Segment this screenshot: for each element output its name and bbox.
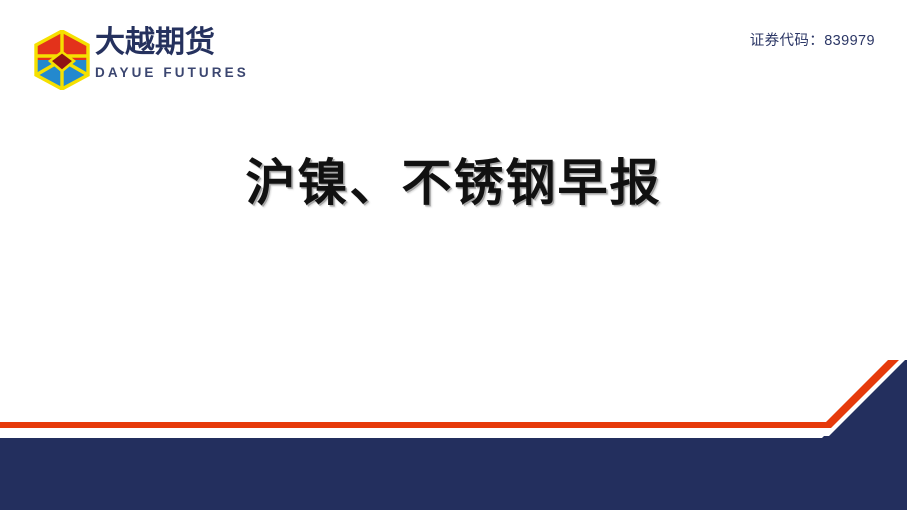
company-name-en: DAYUE FUTURES (95, 64, 240, 82)
brand-logo-lockup: 大越期货 DAYUE FUTURES (30, 26, 240, 92)
dayue-cube-logo-icon (34, 30, 90, 90)
band-white-divider (0, 360, 907, 436)
title-container: 沪镍、不锈钢早报 (0, 150, 907, 216)
brand-wordmark: 大越期货 DAYUE FUTURES (95, 26, 240, 82)
securities-code-label: 证券代码：839979 (750, 29, 875, 50)
bottom-decorative-band (0, 360, 907, 510)
page-title: 沪镍、不锈钢早报 (246, 150, 662, 216)
report-cover-slide: 大越期货 DAYUE FUTURES 证券代码：839979 沪镍、不锈钢早报 (0, 0, 907, 510)
band-orange-stripe (0, 360, 907, 428)
band-navy-shape (0, 360, 907, 510)
company-name-cn: 大越期货 (95, 26, 240, 60)
